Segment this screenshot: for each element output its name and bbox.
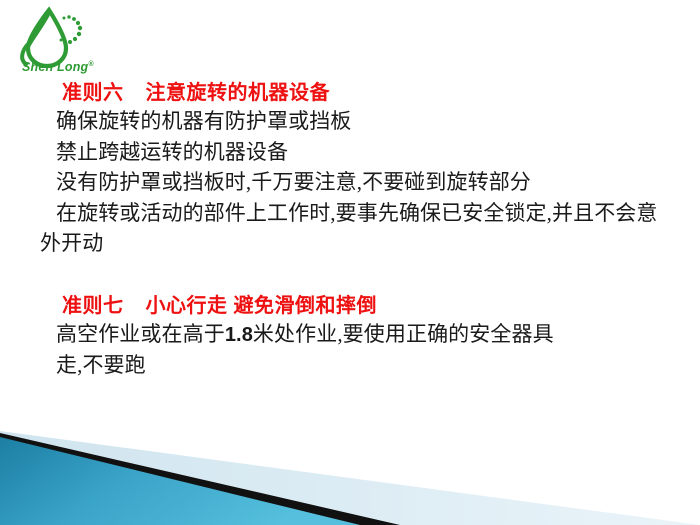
slide-canvas: Shen Long® 准则六注意旋转的机器设备 确保旋转的机器有防护罩或挡板 禁… — [0, 0, 700, 525]
body-line: 走,不要跑 — [0, 350, 700, 381]
trademark-symbol: ® — [88, 61, 93, 68]
heading-number: 准则七 — [62, 295, 124, 317]
body-line: 禁止跨越运转的机器设备 — [0, 137, 700, 168]
emphasized-number: 1.8 — [225, 324, 253, 346]
section-guideline-seven: 准则七小心行走 避免滑倒和摔倒 高空作业或在高于1.8米处作业,要使用正确的安全… — [0, 293, 700, 381]
heading-number: 准则六 — [62, 82, 124, 104]
slide-content: 准则六注意旋转的机器设备 确保旋转的机器有防护罩或挡板 禁止跨越运转的机器设备 … — [0, 80, 700, 381]
section-heading: 准则六注意旋转的机器设备 — [0, 80, 700, 106]
logo-wordmark: Shen Long® — [22, 60, 94, 74]
body-line: 高空作业或在高于1.8米处作业,要使用正确的安全器具 — [0, 319, 700, 351]
body-line: 确保旋转的机器有防护罩或挡板 — [0, 106, 700, 137]
bottom-diagonal-banner — [0, 425, 700, 525]
heading-title: 注意旋转的机器设备 — [146, 82, 331, 104]
heading-title: 小心行走 避免滑倒和摔倒 — [146, 295, 378, 317]
body-line: 在旋转或活动的部件上工作时,要事先确保已安全锁定,并且不会意外开动 — [0, 198, 700, 259]
shen-long-logo: Shen Long® — [8, 6, 104, 78]
logo-wordmark-text: Shen Long — [22, 60, 88, 74]
banner-graphic — [0, 425, 700, 525]
section-heading: 准则七小心行走 避免滑倒和摔倒 — [0, 293, 700, 319]
body-line: 没有防护罩或挡板时,千万要注意,不要碰到旋转部分 — [0, 167, 700, 198]
section-guideline-six: 准则六注意旋转的机器设备 确保旋转的机器有防护罩或挡板 禁止跨越运转的机器设备 … — [0, 80, 700, 259]
section-spacer — [0, 259, 700, 293]
